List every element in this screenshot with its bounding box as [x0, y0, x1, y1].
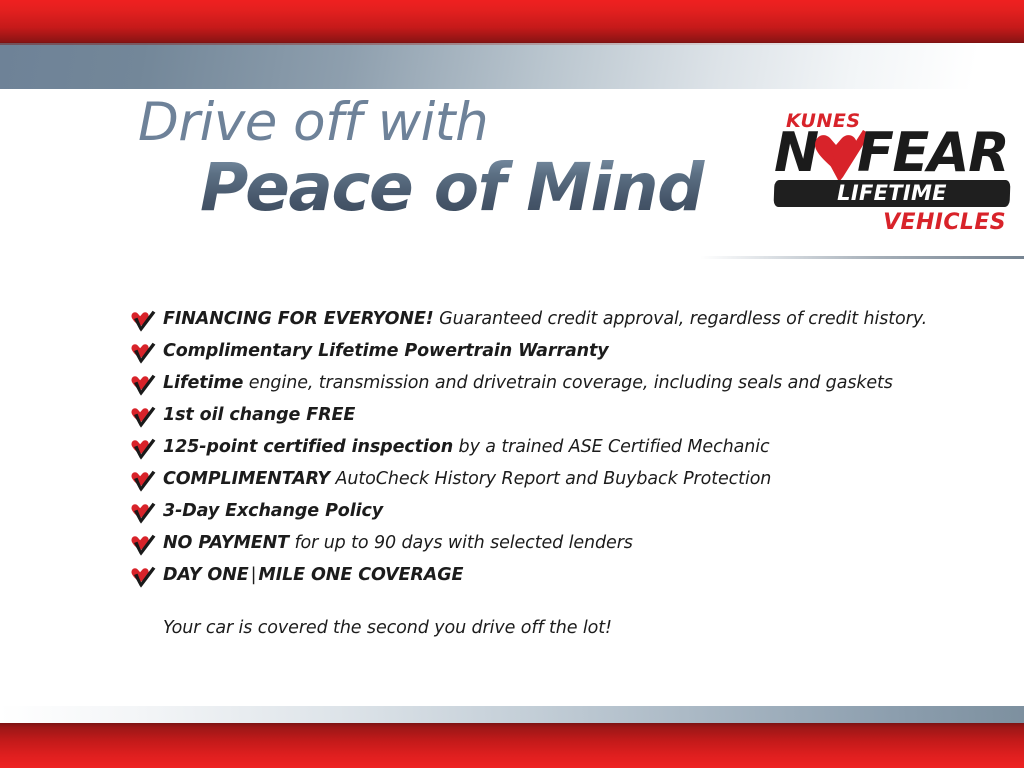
heart-check-bullet-icon	[130, 502, 156, 524]
bottom-red-band	[0, 723, 1024, 768]
page-title: Drive off with Peace of Mind	[138, 96, 758, 222]
list-item: 3-Day Exchange Policy	[130, 498, 960, 530]
heart-check-bullet-icon	[130, 374, 156, 396]
kunes-no-fear-logo: KUNES N FEAR LIFETIME CERTIFIED VEHICLES	[772, 110, 1012, 246]
list-item: FINANCING FOR EVERYONE! Guaranteed credi…	[130, 306, 960, 338]
list-item-separator: |	[249, 565, 259, 585]
benefits-list: FINANCING FOR EVERYONE! Guaranteed credi…	[130, 306, 960, 640]
list-item-text: NO PAYMENT for up to 90 days with select…	[163, 530, 633, 556]
list-item: 1st oil change FREE	[130, 402, 960, 434]
heart-check-bullet-icon	[130, 566, 156, 588]
list-item-text: Lifetime engine, transmission and drivet…	[163, 370, 893, 396]
list-item: 125-point certified inspection by a trai…	[130, 434, 960, 466]
header-divider	[700, 256, 1024, 259]
logo-vehicles-text: VEHICLES	[883, 210, 1006, 235]
logo-lifetime-certified-bar: LIFETIME CERTIFIED	[774, 180, 1011, 207]
list-item-bold: FINANCING FOR EVERYONE!	[163, 309, 434, 329]
list-item-bold: 3-Day Exchange Policy	[163, 501, 383, 521]
list-item-text: FINANCING FOR EVERYONE! Guaranteed credi…	[163, 306, 927, 332]
heart-check-bullet-icon	[130, 310, 156, 332]
list-item-rest: AutoCheck History Report and Buyback Pro…	[330, 469, 771, 489]
top-gray-band	[0, 43, 1024, 89]
list-item: DAY ONE|MILE ONE COVERAGE	[130, 562, 960, 616]
bottom-gray-band	[0, 706, 1024, 724]
promo-banner: Drive off with Peace of Mind KUNES N FEA…	[0, 0, 1024, 768]
heart-check-bullet-icon	[130, 534, 156, 556]
list-item-bold: Complimentary Lifetime Powertrain Warran…	[163, 341, 609, 361]
headline-line-2: Peace of Mind	[200, 153, 758, 222]
heart-check-bullet-icon	[130, 406, 156, 428]
list-item-text: Complimentary Lifetime Powertrain Warran…	[163, 338, 609, 364]
header: Drive off with Peace of Mind KUNES N FEA…	[0, 96, 1024, 268]
list-item-rest: engine, transmission and drivetrain cove…	[243, 373, 893, 393]
headline-line-1: Drive off with	[138, 96, 758, 149]
top-red-band	[0, 0, 1024, 44]
list-item-text: 1st oil change FREE	[163, 402, 355, 428]
list-item-bold: DAY ONE	[163, 565, 249, 585]
list-item-text: 125-point certified inspection by a trai…	[163, 434, 769, 460]
list-item-text: 3-Day Exchange Policy	[163, 498, 383, 524]
list-item-bold: 125-point certified inspection	[163, 437, 453, 457]
list-item-subtext: Your car is covered the second you drive…	[163, 616, 960, 640]
list-item: NO PAYMENT for up to 90 days with select…	[130, 530, 960, 562]
list-item: COMPLIMENTARY AutoCheck History Report a…	[130, 466, 960, 498]
list-item-rest: Guaranteed credit approval, regardless o…	[434, 309, 927, 329]
list-item-bold: Lifetime	[163, 373, 243, 393]
list-item: Complimentary Lifetime Powertrain Warran…	[130, 338, 960, 370]
list-item-rest: for up to 90 days with selected lenders	[289, 533, 633, 553]
list-item-bold: COMPLIMENTARY	[163, 469, 330, 489]
list-item-text: COMPLIMENTARY AutoCheck History Report a…	[163, 466, 771, 492]
heart-check-bullet-icon	[130, 470, 156, 492]
list-item-bold-2: MILE ONE COVERAGE	[258, 565, 463, 585]
list-item: Lifetime engine, transmission and drivet…	[130, 370, 960, 402]
logo-nofear-wordmark: N FEAR	[774, 126, 1014, 182]
logo-word-fear: FEAR	[857, 126, 1008, 180]
list-item-text: DAY ONE|MILE ONE COVERAGE	[163, 562, 463, 588]
list-item-bold: NO PAYMENT	[163, 533, 289, 553]
heart-check-bullet-icon	[130, 438, 156, 460]
logo-lifetime-certified-text: LIFETIME CERTIFIED	[774, 180, 1010, 207]
list-item-bold: 1st oil change FREE	[163, 405, 355, 425]
heart-check-bullet-icon	[130, 342, 156, 364]
list-item-rest: by a trained ASE Certified Mechanic	[453, 437, 769, 457]
